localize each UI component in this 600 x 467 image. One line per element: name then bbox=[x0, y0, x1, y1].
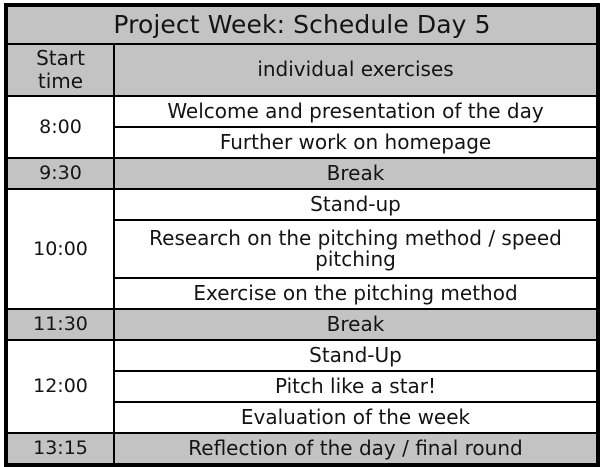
column-header-start-time-line1: Start bbox=[36, 46, 85, 70]
activity-cell: Stand-up bbox=[114, 189, 598, 220]
column-header-activity: individual exercises bbox=[114, 44, 598, 96]
activity-cell: Break bbox=[114, 309, 598, 340]
activity-cell: Research on the pitching method / speed … bbox=[114, 220, 598, 278]
activity-cell: Welcome and presentation of the day bbox=[114, 96, 598, 127]
table-row: 10:00 Stand-up bbox=[6, 189, 598, 220]
start-time-cell: 9:30 bbox=[6, 158, 114, 189]
schedule-table: Project Week: Schedule Day 5 Start time … bbox=[4, 3, 600, 467]
activity-cell: Evaluation of the week bbox=[114, 402, 598, 433]
column-header-start-time-line2: time bbox=[38, 69, 83, 93]
schedule-page: Project Week: Schedule Day 5 Start time … bbox=[0, 0, 600, 454]
start-time-cell: 13:15 bbox=[6, 433, 114, 465]
start-time-cell: 8:00 bbox=[6, 96, 114, 158]
column-header-row: Start time individual exercises bbox=[6, 44, 598, 96]
start-time-cell: 12:00 bbox=[6, 340, 114, 433]
activity-cell: Stand-Up bbox=[114, 340, 598, 371]
activity-cell: Pitch like a star! bbox=[114, 371, 598, 402]
activity-cell: Exercise on the pitching method bbox=[114, 278, 598, 309]
table-row: 13:15 Reflection of the day / final roun… bbox=[6, 433, 598, 465]
table-row: 9:30 Break bbox=[6, 158, 598, 189]
column-header-start-time: Start time bbox=[6, 44, 114, 96]
activity-cell: Further work on homepage bbox=[114, 127, 598, 158]
activity-cell: Break bbox=[114, 158, 598, 189]
table-row: 12:00 Stand-Up bbox=[6, 340, 598, 371]
title-row: Project Week: Schedule Day 5 bbox=[6, 5, 598, 44]
table-row: 8:00 Welcome and presentation of the day bbox=[6, 96, 598, 127]
start-time-cell: 10:00 bbox=[6, 189, 114, 309]
activity-cell: Reflection of the day / final round bbox=[114, 433, 598, 465]
page-title: Project Week: Schedule Day 5 bbox=[6, 5, 598, 44]
start-time-cell: 11:30 bbox=[6, 309, 114, 340]
table-row: 11:30 Break bbox=[6, 309, 598, 340]
